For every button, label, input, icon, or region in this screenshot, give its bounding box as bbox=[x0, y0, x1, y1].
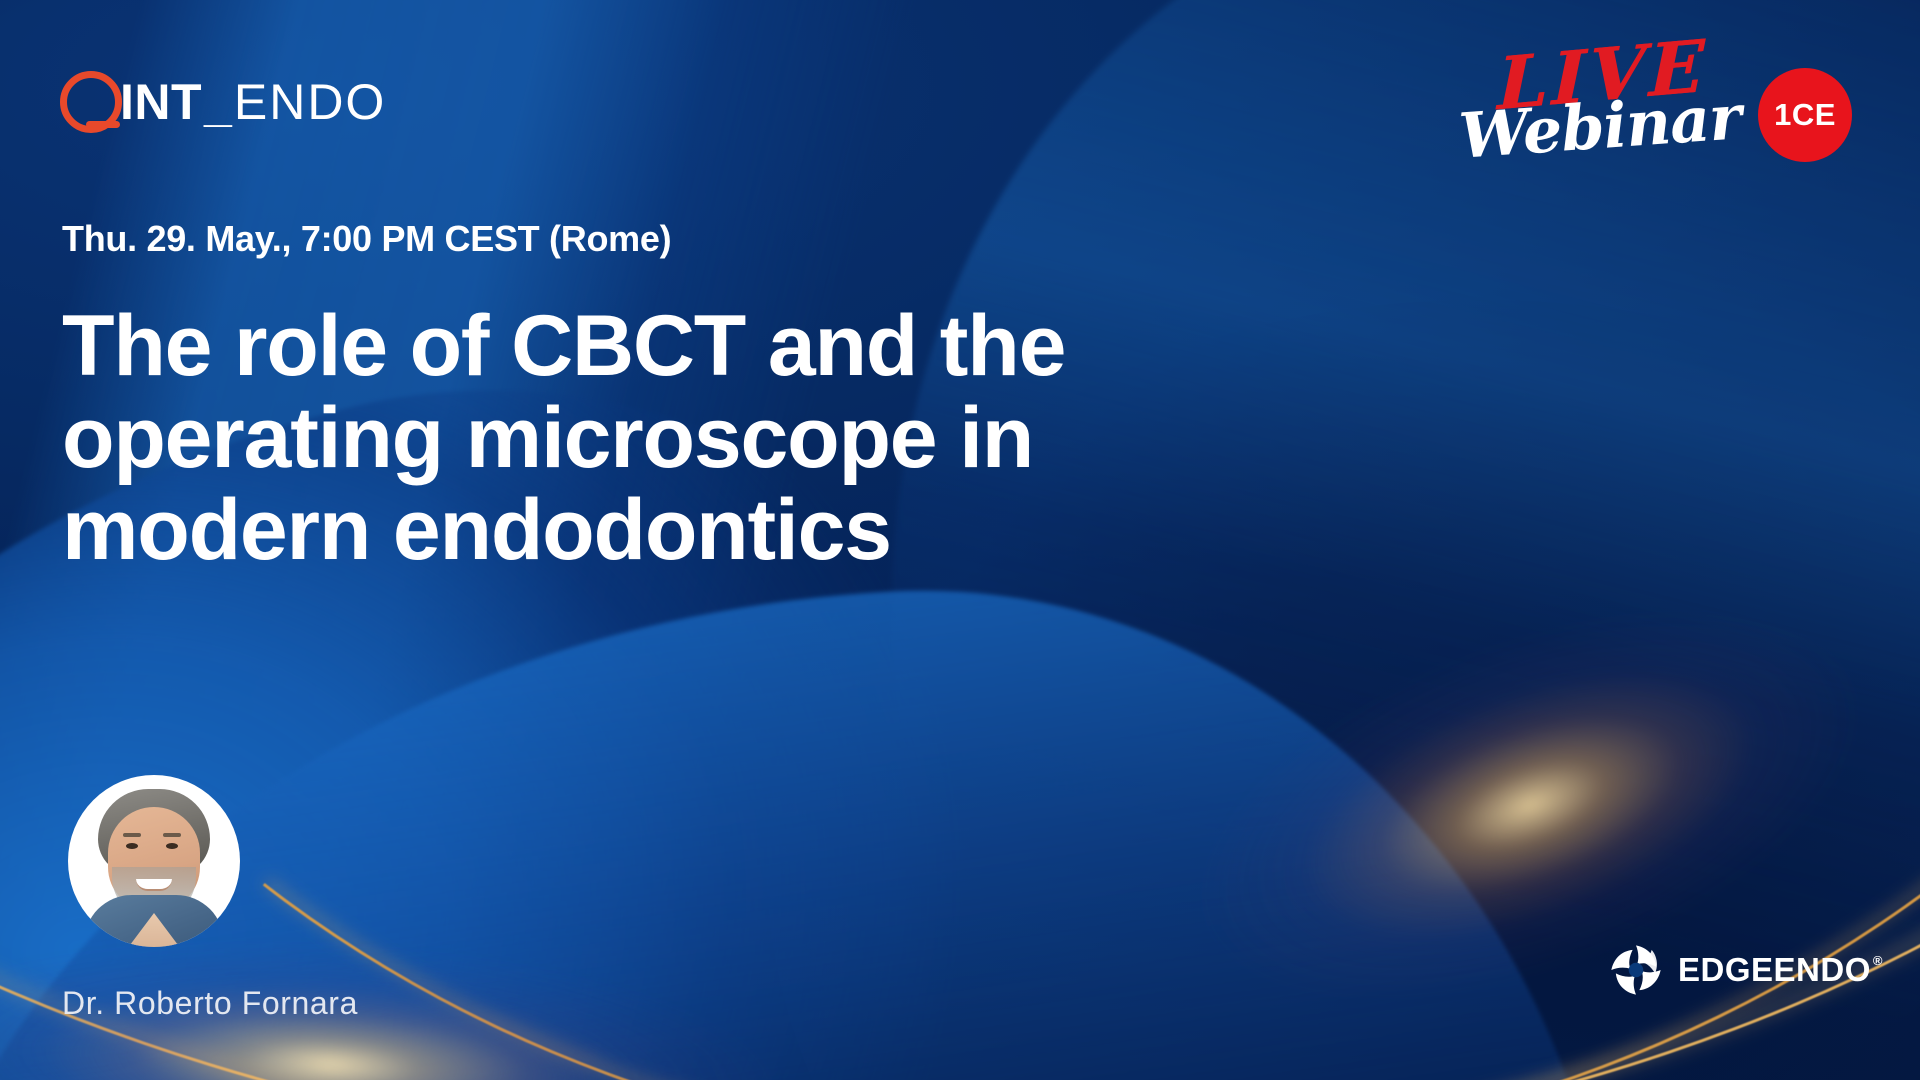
logo-text-endo: ENDO bbox=[234, 77, 386, 127]
live-webinar-badge: LIVE Webinar bbox=[1455, 28, 1715, 168]
registered-trademark-icon: ® bbox=[1873, 953, 1883, 968]
q-tail-icon bbox=[86, 121, 120, 128]
portrait-eye-right bbox=[166, 843, 178, 849]
edgeendo-word-endo: ENDO bbox=[1774, 951, 1871, 989]
qint-endo-logo[interactable]: INT _ ENDO bbox=[60, 66, 386, 138]
edgeendo-wordmark: EDGE ENDO ® bbox=[1678, 951, 1881, 989]
speaker-portrait-illustration bbox=[68, 775, 240, 947]
portrait-brow-left bbox=[123, 833, 141, 837]
webinar-banner: INT _ ENDO LIVE Webinar 1CE Thu. 29. May… bbox=[0, 0, 1920, 1080]
edgeendo-word-edge: EDGE bbox=[1678, 951, 1774, 989]
logo-text-underscore: _ bbox=[204, 79, 232, 129]
event-title-line-3: modern endodontics bbox=[62, 484, 1402, 576]
ce-credit-badge: 1CE bbox=[1758, 68, 1852, 162]
portrait-eye-left bbox=[126, 843, 138, 849]
speaker-avatar bbox=[68, 775, 240, 947]
portrait-brow-right bbox=[163, 833, 181, 837]
event-title-line-1: The role of CBCT and the bbox=[62, 300, 1402, 392]
event-title-line-2: operating microscope in bbox=[62, 392, 1402, 484]
speaker-name: Dr. Roberto Fornara bbox=[62, 985, 358, 1022]
event-datetime: Thu. 29. May., 7:00 PM CEST (Rome) bbox=[62, 218, 671, 260]
logo-text-int: INT bbox=[120, 77, 202, 127]
ce-credit-label: 1CE bbox=[1774, 97, 1836, 133]
q-ring-icon bbox=[60, 71, 122, 133]
event-title: The role of CBCT and the operating micro… bbox=[62, 300, 1402, 576]
edgeendo-swirl-icon bbox=[1608, 942, 1664, 998]
edgeendo-logo[interactable]: EDGE ENDO ® bbox=[1608, 942, 1881, 998]
